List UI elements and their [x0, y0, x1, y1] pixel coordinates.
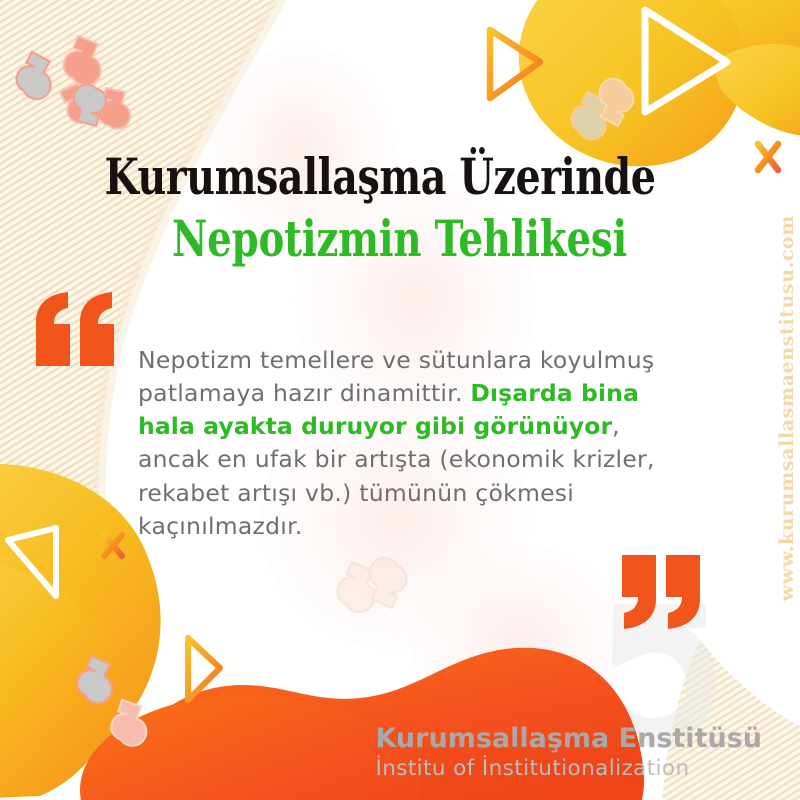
decorative-background	[0, 0, 800, 800]
poster-canvas: Kurumsallaşma Üzerinde Nepotizmin Tehlik…	[0, 0, 800, 800]
background-shapes	[0, 0, 800, 800]
pink-watermark-center	[205, 45, 630, 735]
orange-cross-mark-right	[758, 144, 778, 170]
deep-orange-blob-bottom	[80, 648, 644, 800]
